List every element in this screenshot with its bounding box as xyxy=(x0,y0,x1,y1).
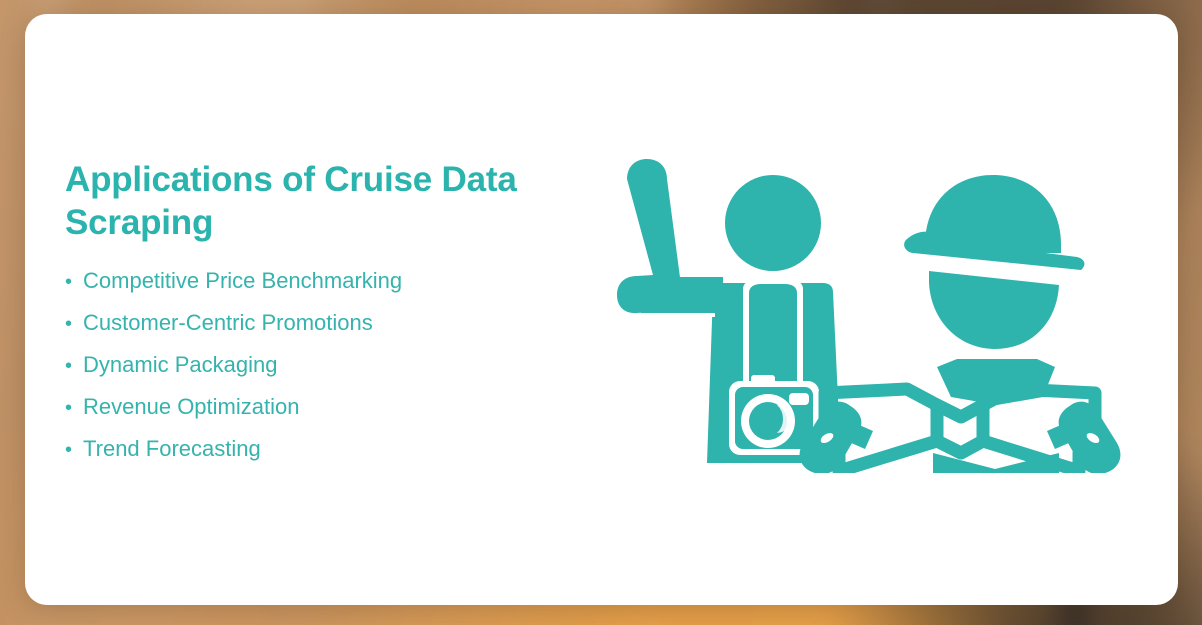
list-item: • Competitive Price Benchmarking xyxy=(65,270,585,292)
list-item: • Dynamic Packaging xyxy=(65,354,585,376)
bullet-dot-icon: • xyxy=(65,356,72,376)
bullet-dot-icon: • xyxy=(65,398,72,418)
card-content: Applications of Cruise Data Scraping • C… xyxy=(25,14,1178,605)
applications-list: • Competitive Price Benchmarking • Custo… xyxy=(65,270,585,460)
list-item-label: Customer-Centric Promotions xyxy=(83,312,373,334)
list-item-label: Competitive Price Benchmarking xyxy=(83,270,402,292)
bullet-dot-icon: • xyxy=(65,272,72,292)
list-item: • Revenue Optimization xyxy=(65,396,585,418)
bullet-dot-icon: • xyxy=(65,440,72,460)
text-column: Applications of Cruise Data Scraping • C… xyxy=(25,159,585,460)
list-item: • Trend Forecasting xyxy=(65,438,585,460)
head-icon xyxy=(725,175,821,271)
list-item-label: Revenue Optimization xyxy=(83,396,299,418)
bullet-dot-icon: • xyxy=(65,314,72,334)
content-card: Applications of Cruise Data Scraping • C… xyxy=(25,14,1178,605)
list-item: • Customer-Centric Promotions xyxy=(65,312,585,334)
list-item-label: Dynamic Packaging xyxy=(83,354,277,376)
two-tourists-illustration xyxy=(585,147,1178,473)
page-title: Applications of Cruise Data Scraping xyxy=(65,159,570,244)
face-icon xyxy=(929,271,1059,349)
list-item-label: Trend Forecasting xyxy=(83,438,261,460)
